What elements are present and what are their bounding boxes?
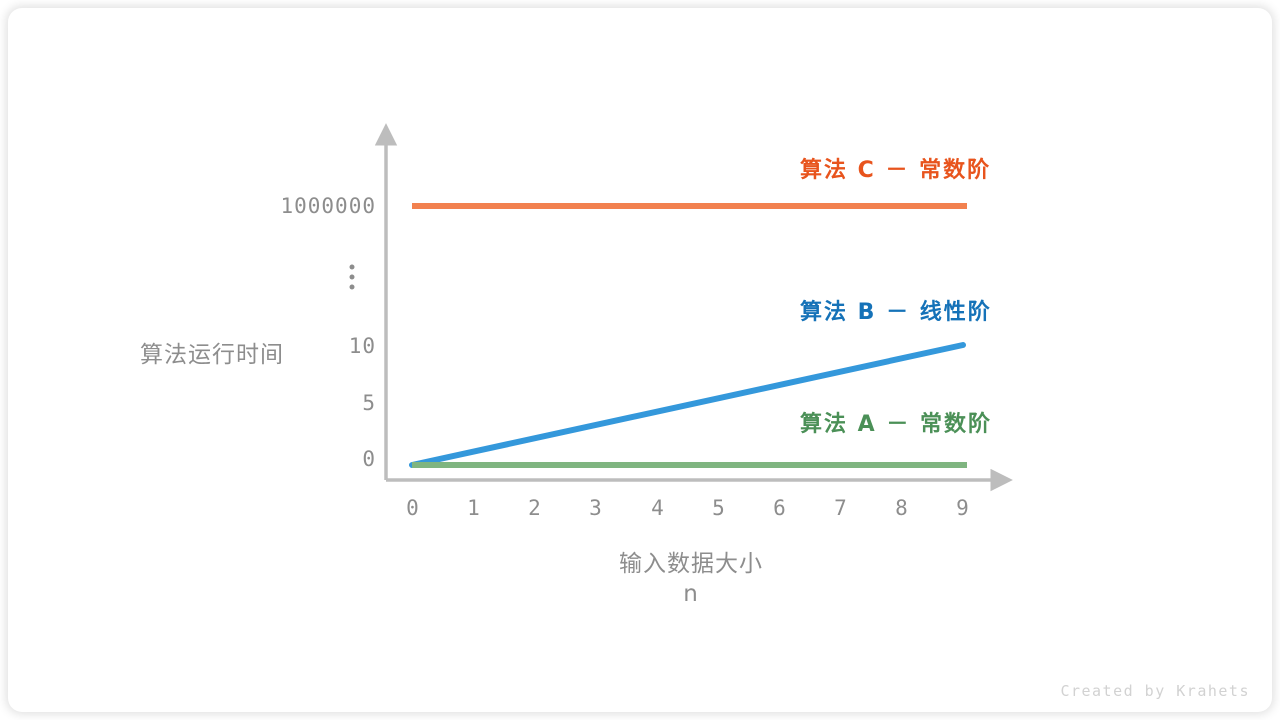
x-tick-label-2: 2	[528, 496, 542, 520]
series-label-b: 算法 B － 线性阶	[800, 294, 992, 326]
x-tick-label-8: 8	[895, 496, 909, 520]
series-label-a: 算法 A － 常数阶	[800, 406, 992, 438]
series-label-c: 算法 C － 常数阶	[800, 152, 991, 184]
x-tick-label-4: 4	[651, 496, 665, 520]
x-tick-label-9: 9	[956, 496, 970, 520]
y-tick-label-10: 10	[296, 334, 376, 358]
x-axis-title: 输入数据大小	[591, 544, 791, 578]
x-tick-label-0: 0	[406, 496, 420, 520]
series-line-b	[412, 345, 963, 465]
y-tick-label-0: 0	[296, 447, 376, 471]
y-axis-title: 算法运行时间	[132, 335, 292, 369]
chart-card: 1000000 10 5 0 0 1 2 3 4 5 6 7 8 9 算法运行时…	[8, 8, 1272, 712]
x-axis-title-variable: n	[591, 581, 791, 607]
x-tick-label-1: 1	[467, 496, 481, 520]
watermark-credit: Created by Krahets	[1060, 682, 1250, 700]
x-tick-label-6: 6	[773, 496, 787, 520]
x-tick-label-5: 5	[712, 496, 726, 520]
x-tick-label-7: 7	[834, 496, 848, 520]
x-tick-label-3: 3	[589, 496, 603, 520]
screenshot-root: 1000000 10 5 0 0 1 2 3 4 5 6 7 8 9 算法运行时…	[0, 0, 1280, 720]
y-tick-label-1000000: 1000000	[276, 194, 376, 218]
y-axis-break-dots-icon	[350, 265, 355, 290]
y-tick-label-5: 5	[296, 391, 376, 415]
